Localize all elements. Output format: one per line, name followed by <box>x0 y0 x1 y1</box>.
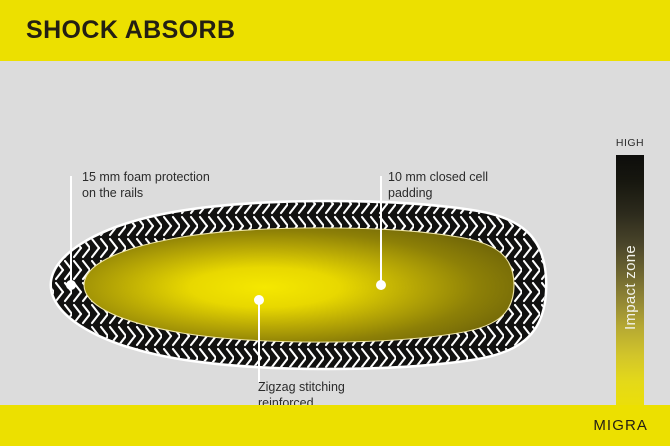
legend-gradient-bar <box>616 155 644 419</box>
surfboard-diagram <box>0 61 670 405</box>
header-banner: SHOCK ABSORB <box>0 0 670 61</box>
page-title: SHOCK ABSORB <box>26 16 235 45</box>
diagram-stage: 15 mm foam protection on the rails 10 mm… <box>0 61 670 405</box>
board-deck <box>84 228 514 342</box>
footer-banner: MIGRA <box>0 405 670 446</box>
infographic-page: SHOCK ABSORB <box>0 0 670 446</box>
callout-label-closed-cell-padding: 10 mm closed cell padding <box>388 169 488 201</box>
impact-zone-legend: HIGH Impact zone LIGHT <box>606 137 654 437</box>
callout-label-foam-rails: 15 mm foam protection on the rails <box>82 169 210 201</box>
legend-label-high: HIGH <box>606 137 654 149</box>
brand-logo: MIGRA <box>593 417 648 434</box>
